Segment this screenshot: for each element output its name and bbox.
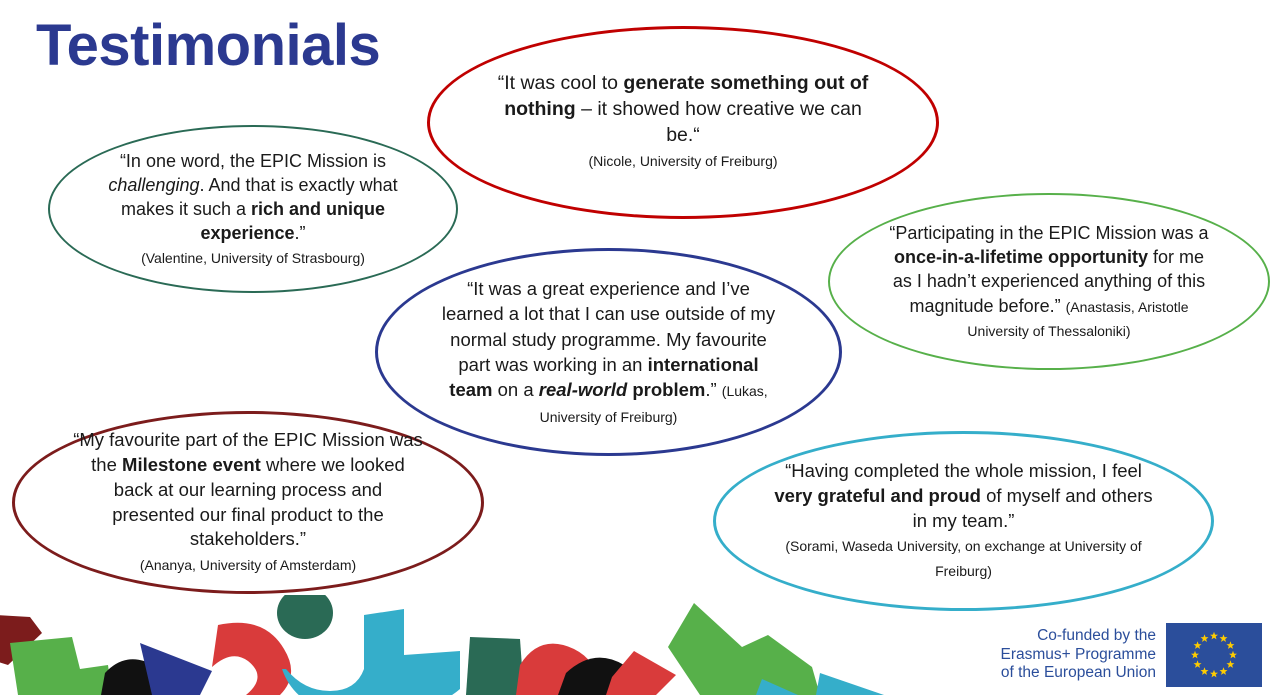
decor-shape-red-hook xyxy=(212,623,291,695)
eu-star xyxy=(1210,632,1218,640)
eu-star xyxy=(1229,651,1237,659)
quote-text-valentine: “In one word, the EPIC Mission is challe… xyxy=(108,151,397,243)
decor-shape-navy xyxy=(140,643,212,695)
eu-star xyxy=(1226,660,1234,668)
eu-star xyxy=(1210,670,1218,678)
quote-text-nicole: “It was cool to generate something out o… xyxy=(498,72,869,146)
eu-star xyxy=(1201,667,1209,675)
decor-shape-teal-oval xyxy=(277,595,333,639)
decor-shape-green-right xyxy=(668,603,820,695)
testimonial-text-nicole: “It was cool to generate something out o… xyxy=(483,71,883,175)
testimonial-text-lukas: “It was a great experience and I’ve lear… xyxy=(429,276,789,428)
decor-shape-cyan-small xyxy=(756,679,798,695)
eu-star xyxy=(1201,634,1209,642)
eu-stars-svg xyxy=(1166,623,1262,687)
eu-star xyxy=(1220,634,1228,642)
eu-star xyxy=(1191,651,1199,659)
erasmus-funding-logo: Co-funded by the Erasmus+ Programme of t… xyxy=(1001,623,1262,687)
eu-star xyxy=(1226,641,1234,649)
decor-shape-teal-angular xyxy=(466,637,524,695)
decor-shape-cyan-right xyxy=(816,673,884,695)
funding-line-3: of the European Union xyxy=(1001,664,1156,683)
testimonial-text-sorami: “Having completed the whole mission, I f… xyxy=(764,459,1164,583)
testimonial-attribution-sorami: (Sorami, Waseda University, on exchange … xyxy=(785,538,1141,579)
quote-text-sorami: “Having completed the whole mission, I f… xyxy=(774,460,1152,531)
testimonial-ellipse-ananya: “My favourite part of the EPIC Mission w… xyxy=(12,411,484,594)
testimonial-text-ananya: “My favourite part of the EPIC Mission w… xyxy=(63,428,433,577)
testimonial-text-valentine: “In one word, the EPIC Mission is challe… xyxy=(93,149,413,270)
quote-text-lukas: “It was a great experience and I’ve lear… xyxy=(442,278,775,400)
decor-shape-maroon xyxy=(0,615,42,665)
funding-line-1: Co-funded by the xyxy=(1001,627,1156,646)
funding-line-2: Erasmus+ Programme xyxy=(1001,646,1156,665)
testimonial-attribution-nicole: (Nicole, University of Freiburg) xyxy=(588,153,777,169)
testimonial-ellipse-anastasis: “Participating in the EPIC Mission was a… xyxy=(828,193,1270,370)
testimonial-attribution-valentine: (Valentine, University of Strasbourg) xyxy=(141,250,365,266)
decor-shape-green-left xyxy=(10,637,112,695)
testimonial-ellipse-valentine: “In one word, the EPIC Mission is challe… xyxy=(48,125,458,293)
eu-star xyxy=(1220,667,1228,675)
erasmus-funding-text: Co-funded by the Erasmus+ Programme of t… xyxy=(1001,627,1156,684)
decor-shape-red-right xyxy=(606,651,676,695)
testimonial-attribution-ananya: (Ananya, University of Amsterdam) xyxy=(140,557,356,573)
eu-star xyxy=(1194,660,1202,668)
quote-text-ananya: “My favourite part of the EPIC Mission w… xyxy=(73,429,423,549)
testimonial-ellipse-nicole: “It was cool to generate something out o… xyxy=(427,26,939,219)
eu-star xyxy=(1194,641,1202,649)
eu-flag-icon xyxy=(1166,623,1262,687)
testimonial-text-anastasis: “Participating in the EPIC Mission was a… xyxy=(879,221,1219,342)
testimonial-ellipse-lukas: “It was a great experience and I’ve lear… xyxy=(375,248,842,456)
decor-shape-black-mid xyxy=(558,658,634,695)
slide-canvas: Testimonials “It was cool to generate so… xyxy=(0,0,1274,695)
decor-shape-black-left xyxy=(101,659,185,695)
testimonial-ellipse-sorami: “Having completed the whole mission, I f… xyxy=(713,431,1214,611)
decor-shape-cyan-main xyxy=(282,609,460,695)
page-title: Testimonials xyxy=(36,16,380,77)
decor-shape-red-mid xyxy=(516,644,597,695)
